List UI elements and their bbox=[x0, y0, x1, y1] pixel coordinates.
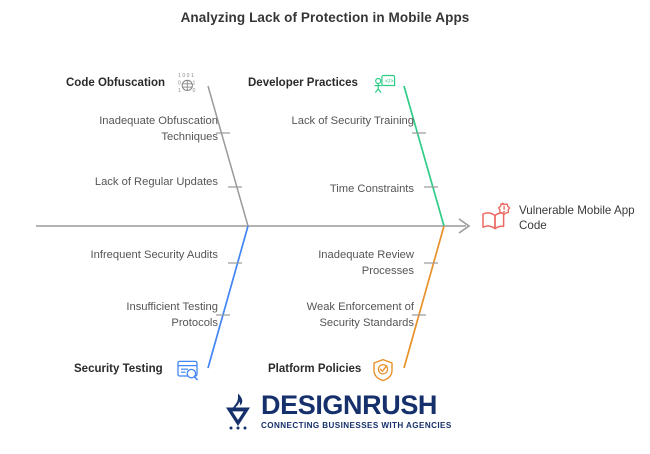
designrush-logo: DESIGNRUSH CONNECTING BUSINESSES WITH AG… bbox=[222, 391, 452, 431]
branch-line-code-obfuscation bbox=[208, 86, 248, 226]
branch-label-code-obfuscation[interactable]: Code Obfuscation bbox=[66, 77, 165, 89]
brand-tagline: CONNECTING BUSINESSES WITH AGENCIES bbox=[261, 420, 452, 431]
brand-wordmark: DESIGNRUSH bbox=[261, 391, 452, 419]
branch-line-developer-practices bbox=[404, 86, 444, 226]
document-search-icon bbox=[175, 357, 201, 383]
shield-check-icon bbox=[370, 357, 396, 383]
book-alert-icon bbox=[481, 201, 511, 233]
cause-security-testing-2: Insufficient Testing Protocols bbox=[80, 300, 218, 331]
cause-security-testing-1: Infrequent Security Audits bbox=[88, 248, 218, 264]
branch-label-platform-policies[interactable]: Platform Policies bbox=[268, 363, 361, 375]
developer-code-icon: </> bbox=[372, 70, 398, 96]
cause-code-obfuscation-2: Lack of Regular Updates bbox=[88, 175, 218, 191]
svg-text:1: 1 bbox=[178, 88, 181, 94]
svg-text:</>: </> bbox=[385, 79, 394, 85]
svg-text:0: 0 bbox=[193, 88, 196, 94]
cause-developer-practices-1: Lack of Security Training bbox=[284, 114, 414, 130]
cause-platform-policies-1: Inadequate Review Processes bbox=[284, 248, 414, 279]
svg-text:1 0 0 1: 1 0 0 1 bbox=[178, 73, 194, 79]
cause-platform-policies-2: Weak Enforcement of Security Standards bbox=[272, 300, 414, 331]
designrush-flame-icon bbox=[222, 391, 254, 431]
effect-node[interactable]: Vulnerable Mobile App Code bbox=[481, 200, 646, 233]
cause-code-obfuscation-1: Inadequate Obfuscation Techniques bbox=[88, 114, 218, 145]
svg-text:1: 1 bbox=[193, 81, 196, 87]
branch-label-security-testing[interactable]: Security Testing bbox=[74, 363, 163, 375]
svg-text:0: 0 bbox=[178, 81, 181, 87]
branch-label-developer-practices[interactable]: Developer Practices bbox=[248, 77, 358, 89]
binary-code-icon: 1 0 0 1 0 1 1 0 bbox=[175, 71, 201, 97]
effect-label: Vulnerable Mobile App Code bbox=[519, 200, 646, 233]
cause-developer-practices-2: Time Constraints bbox=[284, 182, 414, 198]
